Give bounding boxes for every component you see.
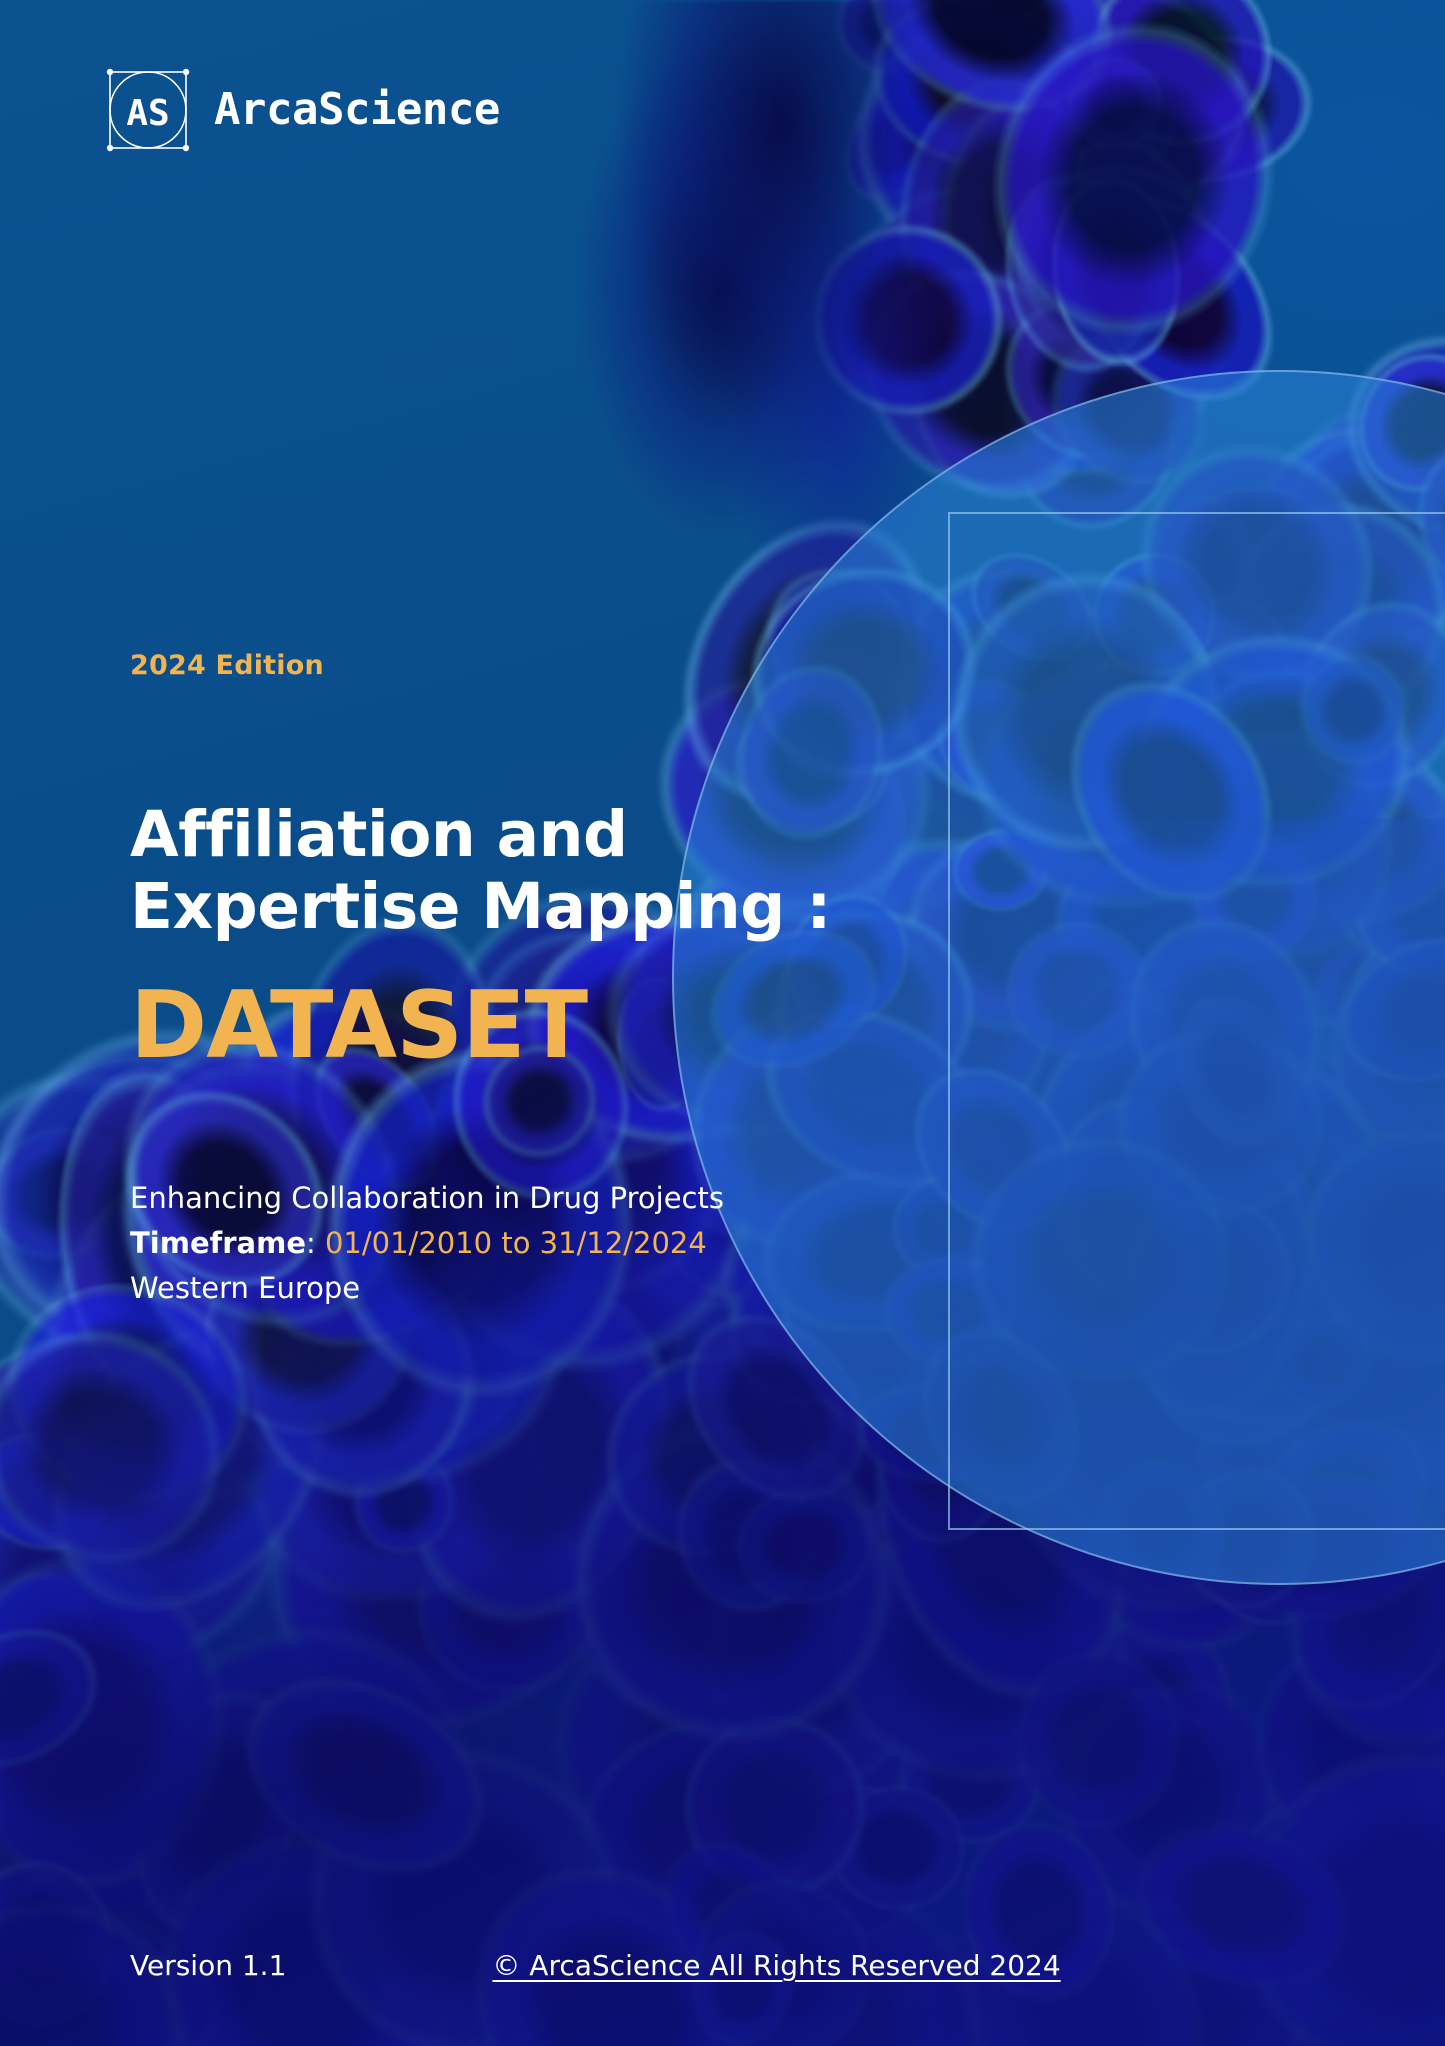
- version-label: Version 1.1: [130, 1949, 286, 1982]
- brand-wordmark: ArcaScience: [214, 88, 500, 132]
- edition-label: 2024 Edition: [130, 650, 950, 681]
- page-title: Affiliation and Expertise Mapping :: [130, 799, 950, 943]
- cover-footer: Version 1.1 © ArcaScience All Rights Res…: [130, 1949, 1320, 1982]
- timeframe-value: 01/01/2010 to 31/12/2024: [325, 1226, 707, 1260]
- timeframe-row: Timeframe: 01/01/2010 to 31/12/2024: [130, 1221, 950, 1266]
- decorative-rectangle-outline: [948, 512, 1445, 1530]
- logo-monogram-text: AS: [126, 93, 169, 134]
- region-text: Western Europe: [130, 1266, 950, 1311]
- document-type-heading: DATASET: [130, 979, 950, 1072]
- timeframe-separator: :: [306, 1226, 325, 1260]
- arcascience-logo-icon: AS: [104, 66, 192, 154]
- timeframe-label: Timeframe: [130, 1226, 306, 1260]
- document-cover-page: AS ArcaScience 2024 Edition Affiliation …: [0, 0, 1445, 2046]
- subtitle-text: Enhancing Collaboration in Drug Projects: [130, 1176, 950, 1221]
- brand-logo[interactable]: AS ArcaScience: [104, 66, 500, 154]
- title-line-1: Affiliation and: [130, 799, 950, 871]
- cover-content: 2024 Edition Affiliation and Expertise M…: [130, 650, 950, 1311]
- cover-subtitle-block: Enhancing Collaboration in Drug Projects…: [130, 1176, 950, 1312]
- copyright-link[interactable]: © ArcaScience All Rights Reserved 2024: [492, 1949, 1060, 1982]
- title-line-2: Expertise Mapping :: [130, 871, 950, 943]
